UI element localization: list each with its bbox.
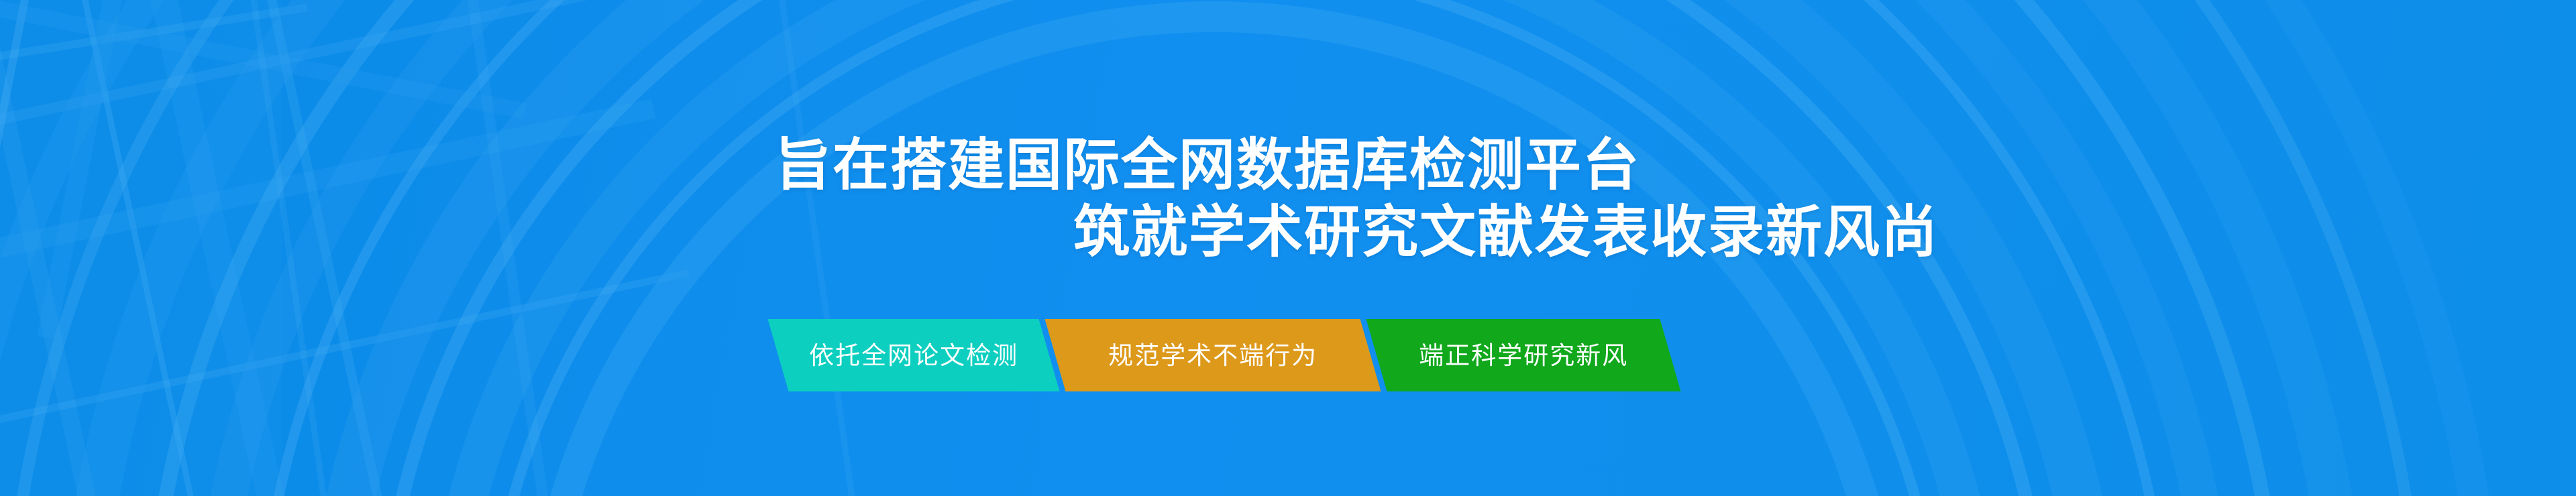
feature-badge-plagiarism-detection[interactable]: 依托全网论文检测 (768, 319, 1060, 391)
feature-badge-label: 依托全网论文检测 (809, 343, 1018, 368)
promo-banner: 旨在搭建国际全网数据库检测平台 筑就学术研究文献发表收录新风尚 依托全网论文检测… (0, 0, 2576, 496)
feature-badge-label: 规范学术不端行为 (1108, 343, 1318, 368)
feature-badge-label: 端正科学研究新风 (1419, 343, 1628, 368)
feature-badge-academic-misconduct[interactable]: 规范学术不端行为 (1045, 319, 1381, 391)
headline-line-2: 筑就学术研究文献发表收录新风尚 (1073, 198, 2576, 265)
feature-badge-research-integrity[interactable]: 端正科学研究新风 (1366, 319, 1681, 391)
headline-line-1: 旨在搭建国际全网数据库检测平台 (775, 131, 2576, 198)
feature-badge-group: 依托全网论文检测 规范学术不端行为 端正科学研究新风 (778, 319, 1670, 391)
headline-block: 旨在搭建国际全网数据库检测平台 筑就学术研究文献发表收录新风尚 (0, 131, 2576, 265)
